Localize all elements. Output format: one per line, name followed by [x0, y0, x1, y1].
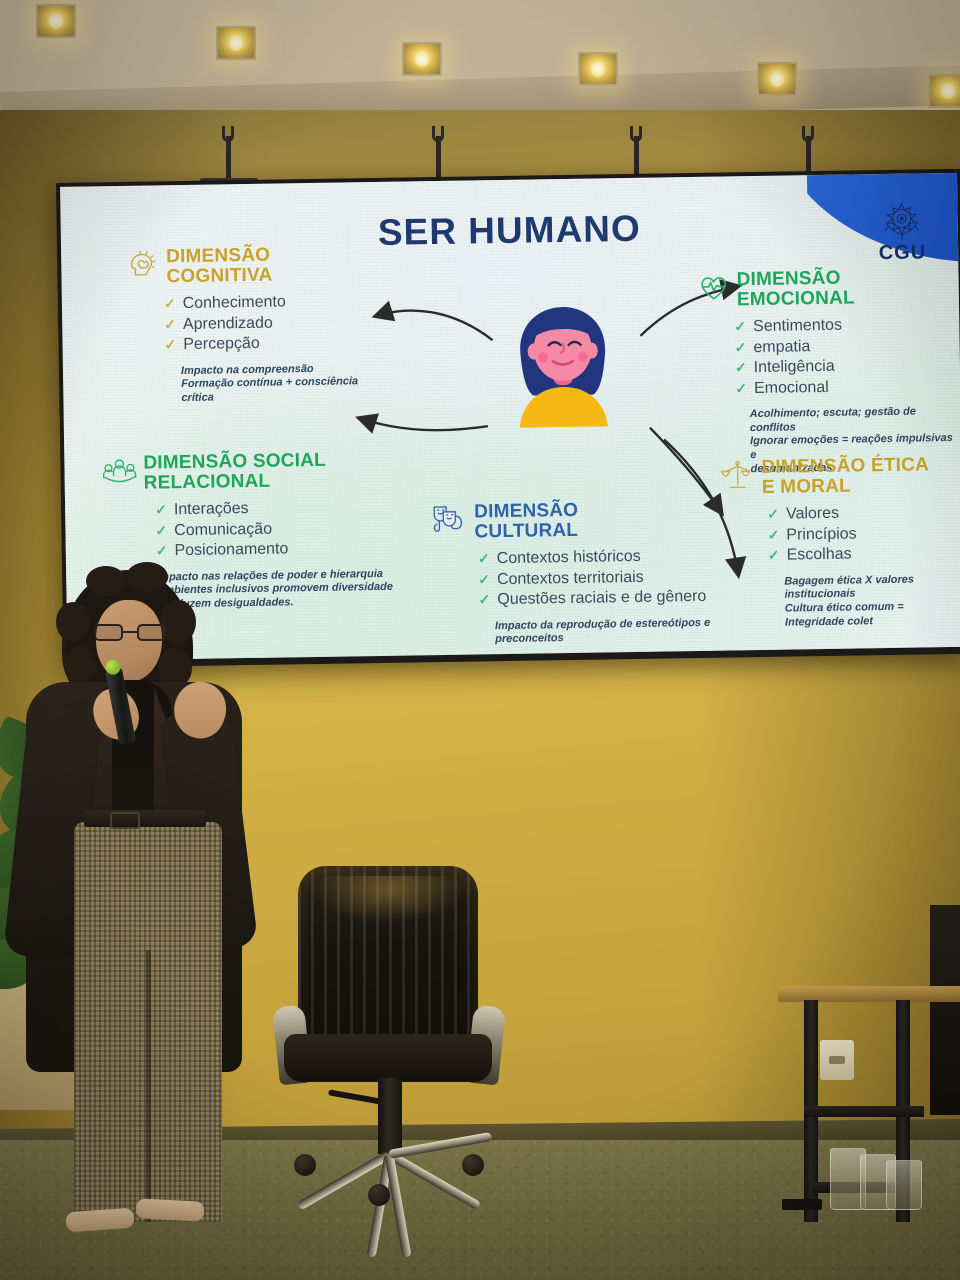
dimension-title: DIMENSÃO CULTURAL [474, 501, 579, 543]
sandal-right [136, 1198, 205, 1222]
mount-hook [802, 126, 814, 142]
dimension-list-item-label: Interações [174, 499, 249, 521]
recessed-spotlight [402, 42, 442, 76]
dimension-item-list: ✓Conhecimento✓Aprendizado✓Percepção [164, 292, 358, 356]
side-table [778, 986, 960, 1226]
cgu-logo-text: CGU [879, 241, 927, 265]
chair-caster [462, 1154, 484, 1176]
dimension-list-item: ✓Percepção [164, 332, 357, 355]
check-icon: ✓ [478, 550, 490, 568]
dimension-note: Bagagem ética X valores institucionais C… [784, 572, 960, 629]
dimension-list-item-label: Aprendizado [183, 313, 273, 335]
recessed-spotlight [578, 52, 618, 86]
chair-height-lever [328, 1089, 382, 1104]
mount-rod [436, 136, 441, 178]
theater-masks-saxophone-icon [431, 504, 468, 544]
chair-gas-cylinder [378, 1078, 402, 1154]
mount-hook [630, 126, 642, 142]
dimension-header: DIMENSÃO COGNITIVA [127, 244, 357, 288]
check-icon: ✓ [735, 339, 747, 357]
dimension-list-item-label: Posicionamento [174, 540, 288, 562]
chair-backrest [298, 866, 478, 1052]
check-icon: ✓ [156, 542, 168, 560]
dimension-list-item-label: Sentimentos [753, 316, 842, 338]
check-icon: ✓ [164, 316, 176, 334]
brain-head-icon [127, 248, 160, 285]
dimension-list-item-label: Contextos históricos [497, 547, 641, 570]
dimension-item-list: ✓Contextos históricos✓Contextos territor… [478, 546, 710, 611]
dimension-list-item-label: Comunicação [174, 519, 272, 541]
balance-scales-icon [720, 459, 755, 497]
conference-room-scene: CGU SER HUMANO [0, 0, 960, 1280]
brazil-coat-of-arms-icon [879, 199, 924, 244]
dimension-list-item-label: empatia [753, 337, 810, 358]
dimension-item-list: ✓Valores✓Princípios✓Escolhas [767, 502, 960, 566]
dimension-item-list: ✓Interações✓Comunicação✓Posicionamento [155, 497, 393, 562]
water-glass [886, 1160, 922, 1210]
dimension-list-item-label: Percepção [183, 334, 260, 356]
check-icon: ✓ [164, 295, 176, 313]
dimension-header: DIMENSÃO ÉTICA E MORAL [720, 455, 960, 499]
presenter [8, 560, 258, 1260]
hair-curl [64, 646, 96, 684]
chair-caster [294, 1154, 316, 1176]
hair-curl [86, 566, 126, 596]
dimension-header: DIMENSÃO CULTURAL [431, 499, 709, 544]
recessed-spotlight [36, 4, 76, 38]
check-icon: ✓ [155, 522, 167, 540]
dimension-block-emocional: DIMENSÃO EMOCIONAL ✓Sentimentos✓empatia✓… [697, 267, 960, 477]
dimension-note: Impacto na compreensão Formação contínua… [181, 362, 359, 406]
chair-seat [284, 1034, 492, 1082]
dimension-list-item-label: Princípios [786, 524, 857, 546]
dimension-list-item-label: Inteligência [754, 357, 835, 379]
check-icon: ✓ [735, 359, 747, 377]
dimension-list-item-label: Conhecimento [182, 293, 285, 315]
phone-on-table [782, 1199, 822, 1210]
recessed-spotlight [757, 62, 797, 96]
dimension-note: Impacto da reprodução de estereótipos e … [495, 616, 711, 647]
people-group-icon [102, 455, 137, 493]
check-icon: ✓ [767, 506, 779, 524]
dimension-block-etica: DIMENSÃO ÉTICA E MORAL ✓Valores✓Princípi… [720, 455, 960, 631]
check-icon: ✓ [735, 380, 747, 398]
mount-rod [634, 136, 639, 178]
sandal-left [65, 1208, 134, 1233]
dimension-list-item: ✓Posicionamento [156, 538, 393, 562]
recessed-spotlight [216, 26, 256, 60]
dimension-header: DIMENSÃO SOCIAL RELACIONAL [102, 450, 391, 495]
dimension-list-item-label: Escolhas [787, 545, 852, 566]
dimension-block-cultural: DIMENSÃO CULTURAL ✓Contextos históricos✓… [431, 499, 710, 648]
dimension-list-item: ✓Questões raciais e de gênero [478, 587, 709, 611]
dimension-list-item: ✓Escolhas [768, 543, 960, 567]
hair-curl [126, 562, 168, 592]
hair-curl [56, 602, 90, 642]
heart-pulse-icon [697, 271, 730, 308]
dimension-title: DIMENSÃO SOCIAL RELACIONAL [143, 451, 326, 494]
table-rail [804, 1106, 924, 1117]
dimension-list-item-label: Contextos territoriais [497, 568, 644, 591]
chair-caster [368, 1184, 390, 1206]
check-icon: ✓ [734, 318, 746, 336]
check-icon: ✓ [478, 591, 490, 609]
check-icon: ✓ [768, 547, 780, 565]
check-icon: ✓ [767, 526, 779, 544]
check-icon: ✓ [164, 336, 176, 354]
dimension-title: DIMENSÃO COGNITIVA [166, 246, 273, 288]
dimension-list-item: ✓Emocional [735, 375, 960, 399]
dimension-title: DIMENSÃO ÉTICA E MORAL [761, 455, 929, 498]
mount-hook [432, 126, 444, 142]
check-icon: ✓ [155, 502, 167, 520]
mount-rod [226, 136, 231, 178]
eyeglasses [94, 624, 166, 641]
check-icon: ✓ [478, 571, 490, 589]
mount-hook [222, 126, 234, 142]
office-chair [276, 866, 502, 1206]
dimension-list-item-label: Emocional [754, 378, 829, 400]
dimension-item-list: ✓Sentimentos✓empatia✓Inteligência✓Emocio… [734, 314, 960, 399]
central-person-illustration [494, 298, 632, 428]
trouser-seam [146, 950, 151, 1222]
dimension-list-item-label: Valores [786, 504, 839, 525]
belt [84, 810, 206, 827]
recessed-spotlight [928, 74, 960, 108]
dimension-list-item-label: Questões raciais e de gênero [497, 587, 706, 611]
dimension-block-cognitiva: DIMENSÃO COGNITIVA ✓Conhecimento✓Aprendi… [127, 244, 358, 406]
